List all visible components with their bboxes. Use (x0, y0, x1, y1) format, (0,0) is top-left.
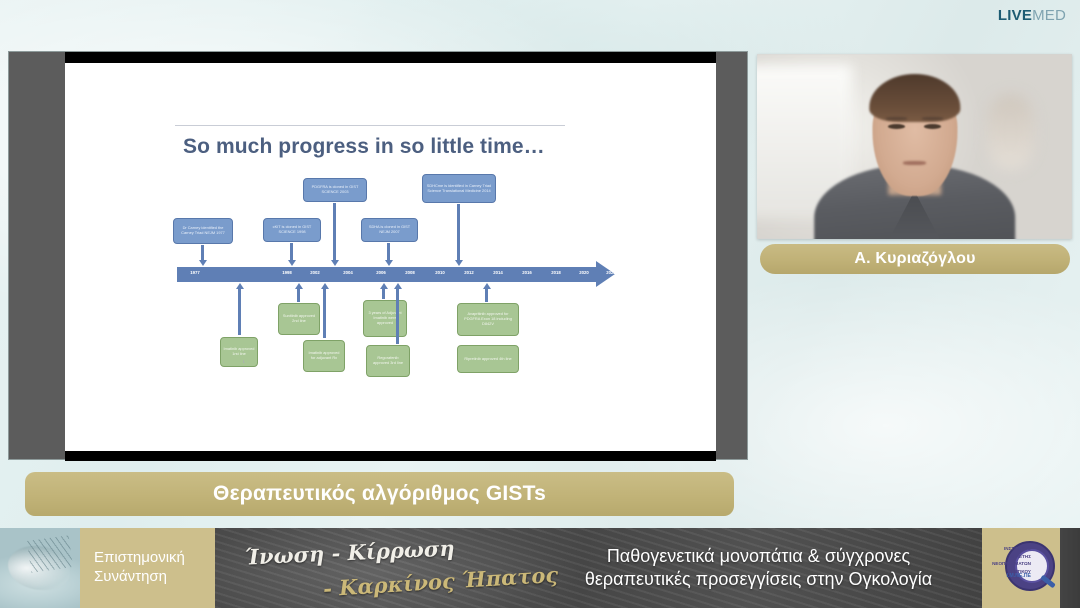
timeline-down-arrow-icon (201, 245, 204, 261)
video-background-object (987, 95, 1034, 169)
timeline-treatment-box: Ripretinib approved 4th line (457, 345, 519, 373)
timeline-year: 2002 (310, 270, 320, 275)
timeline-event-box: SDHA is cloned in GIST NEJM 2007 (361, 218, 418, 242)
timeline-down-arrow-icon (333, 203, 336, 261)
institute-logo: ΙΝΣΤΙΤΟΥΤΟ ΜΕΛΕΤΗΣ ΝΕΟΠΛΑΣΜΑΤΩΝ ΠΕΠΤΙΚΟΥ… (982, 528, 1060, 608)
timeline-up-arrow-icon (485, 288, 488, 302)
timeline-event-box: cKIT is cloned in GIST SCIENCE 1998 (263, 218, 321, 242)
footer-artwork-thumbnail (0, 528, 80, 608)
footer-event-label-line2: Συνάντηση (94, 568, 215, 587)
timeline-treatment-box: Sunitinib approved 2nd line (278, 303, 320, 335)
slide-viewer[interactable]: So much progress in so little time… 1977… (8, 51, 748, 460)
timeline-down-arrow-icon (387, 243, 390, 261)
timeline-treatment-box: Avapritinib approved for PDGFRA Exon 18 … (457, 303, 519, 336)
footer-topic-line1: Παθογενετικά μονοπάτια & σύγχρονες (607, 545, 910, 568)
timeline-down-arrow-icon (457, 204, 460, 261)
timeline-treatment-box: Regorafenib approved 3rd line (366, 345, 410, 377)
timeline-year: 1998 (282, 270, 292, 275)
timeline-year: 2004 (343, 270, 353, 275)
timeline-up-arrow-icon (323, 288, 326, 338)
timeline-up-arrow-icon (297, 288, 300, 302)
timeline-year: 2014 (493, 270, 503, 275)
speaker-eyebrow-right (922, 117, 942, 120)
speaker-name-banner: Α. Κυριαζόγλου (760, 244, 1070, 274)
timeline-year: 2018 (551, 270, 561, 275)
speaker-mouth (903, 161, 925, 165)
timeline-event-box: SDHCme is identified in Carney Triad Sci… (422, 174, 496, 203)
timeline-year: 2012 (464, 270, 474, 275)
footer-event-label-line1: Επιστημονική (94, 549, 215, 568)
timeline-year: 2010 (435, 270, 445, 275)
slide-canvas: So much progress in so little time… 1977… (65, 63, 716, 451)
session-title-banner: Θεραπευτικός αλγόριθμος GISTs (25, 472, 734, 516)
timeline-treatment-box: 3 years of Adjuvant Imatinib were approv… (363, 300, 407, 337)
footer-handwriting-line2: - Καρκίνος Ήπατος (322, 562, 558, 601)
timeline-year: 2022 (606, 270, 616, 275)
timeline-year: 2016 (522, 270, 532, 275)
institute-logo-text: ΙΝΣΤΙΤΟΥΤΟ ΜΕΛΕΤΗΣ ΝΕΟΠΛΑΣΜΑΤΩΝ ΠΕΠΤΙΚΟΥ (985, 545, 1031, 575)
footer-dark-panel: Ίνωση - Κίρρωση - Καρκίνος Ήπατος Παθογε… (215, 528, 982, 608)
institute-logo-line1: ΙΝΣΤΙΤΟΥΤΟ (985, 545, 1031, 553)
timeline-axis (177, 267, 597, 282)
timeline-year: 1977 (190, 270, 200, 275)
timeline-year: 2020 (579, 270, 589, 275)
footer-topic-line2: θεραπευτικές προσεγγίσεις στην Ογκολογία (585, 568, 932, 591)
speaker-name-label: Α. Κυριαζόγλου (854, 250, 975, 268)
footer-handwriting-title: Ίνωση - Κίρρωση - Καρκίνος Ήπατος (215, 528, 535, 608)
livemed-logo-med: MED (1032, 7, 1066, 24)
gist-timeline-diagram: 1977 1998 2002 2004 2006 2008 2010 2012 … (65, 63, 716, 451)
timeline-up-arrow-icon (238, 288, 241, 335)
timeline-treatment-box: Imatinib approved 1rst line (220, 337, 258, 367)
timeline-event-box: Dr Carney identified the Carney Triad NE… (173, 218, 233, 244)
speaker-eyebrow-left (886, 117, 906, 120)
footer-right-edge (1060, 528, 1080, 608)
institute-logo-line3: ΝΕΟΠΛΑΣΜΑΤΩΝ (985, 560, 1031, 568)
session-title-label: Θεραπευτικός αλγόριθμος GISTs (213, 482, 546, 506)
timeline-year: 2006 (376, 270, 386, 275)
timeline-event-box: PDGFRA is cloned in GIST SCIENCE 2003 (303, 178, 367, 202)
timeline-up-arrow-icon (396, 288, 399, 344)
livemed-logo: LIVEMED (998, 8, 1066, 23)
timeline-treatment-box: Imatinib approved for adjuvant Rx (303, 340, 345, 372)
timeline-up-arrow-icon (382, 288, 385, 299)
timeline-down-arrow-icon (290, 243, 293, 261)
institute-logo-abbreviation: Ι.Μ.ΝΕ.ΠΕ (985, 573, 1031, 579)
slide-cursor-marker: ʟ (243, 359, 246, 362)
footer-topic-title: Παθογενετικά μονοπάτια & σύγχρονες θεραπ… (535, 545, 982, 592)
speaker-video[interactable] (757, 54, 1072, 239)
footer-event-label: Επιστημονική Συνάντηση (80, 528, 215, 608)
institute-logo-line2: ΜΕΛΕΤΗΣ (985, 553, 1031, 561)
livemed-logo-live: LIVE (998, 7, 1032, 24)
footer-handwriting-line1: Ίνωση - Κίρρωση (245, 535, 456, 569)
timeline-year: 2008 (405, 270, 415, 275)
footer-bar: Επιστημονική Συνάντηση Ίνωση - Κίρρωση -… (0, 528, 1080, 608)
